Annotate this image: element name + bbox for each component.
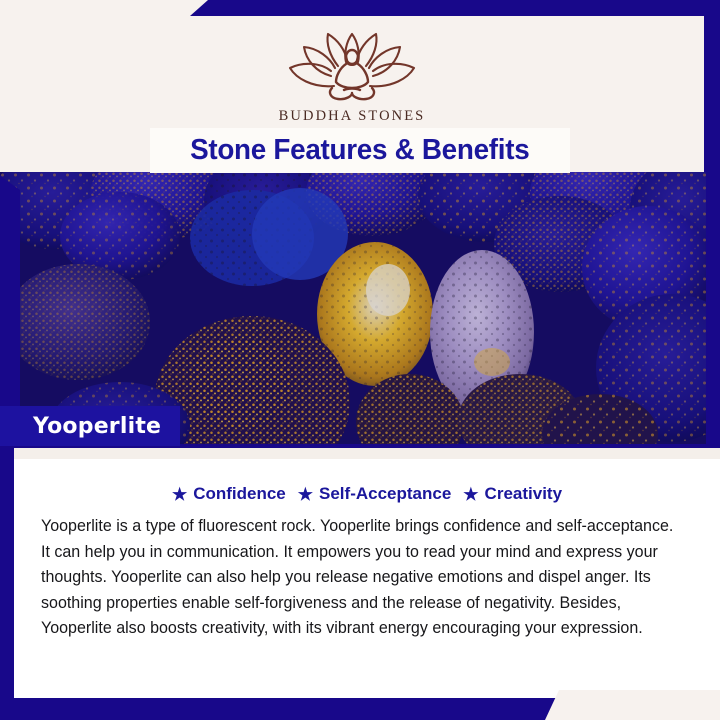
benefit-item-self-acceptance: ★ Self-Acceptance [298, 484, 452, 504]
star-icon: ★ [298, 486, 313, 503]
stone-name-banner: Yooperlite [0, 406, 180, 446]
stone-photo-image [0, 172, 706, 444]
panel-top-accent [14, 448, 720, 459]
stone-photo [0, 172, 706, 444]
benefit-item-confidence: ★ Confidence [172, 484, 286, 504]
star-icon: ★ [172, 486, 187, 503]
brand-logo: BUDDHA STONES [0, 26, 704, 125]
benefit-label: Confidence [193, 484, 286, 504]
bottom-right-corner-accent [545, 690, 720, 720]
lotus-meditation-figure-icon [276, 26, 428, 104]
description-panel-inner: ★ Confidence ★ Self-Acceptance ★ Creativ… [14, 448, 720, 696]
star-icon: ★ [463, 486, 478, 503]
description-panel: ★ Confidence ★ Self-Acceptance ★ Creativ… [0, 444, 720, 720]
infographic-page: BUDDHA STONES Stone Features & Benefits [0, 0, 720, 720]
benefit-label: Creativity [485, 484, 562, 504]
benefits-row: ★ Confidence ★ Self-Acceptance ★ Creativ… [14, 484, 720, 504]
stone-description: Yooperlite is a type of fluorescent rock… [41, 514, 686, 642]
page-title: Stone Features & Benefits [190, 134, 529, 167]
title-banner: Stone Features & Benefits [150, 128, 570, 173]
brand-name: BUDDHA STONES [279, 108, 426, 125]
benefit-item-creativity: ★ Creativity [463, 484, 562, 504]
top-accent-band [190, 0, 720, 16]
stone-name: Yooperlite [33, 414, 161, 439]
benefit-label: Self-Acceptance [319, 484, 451, 504]
